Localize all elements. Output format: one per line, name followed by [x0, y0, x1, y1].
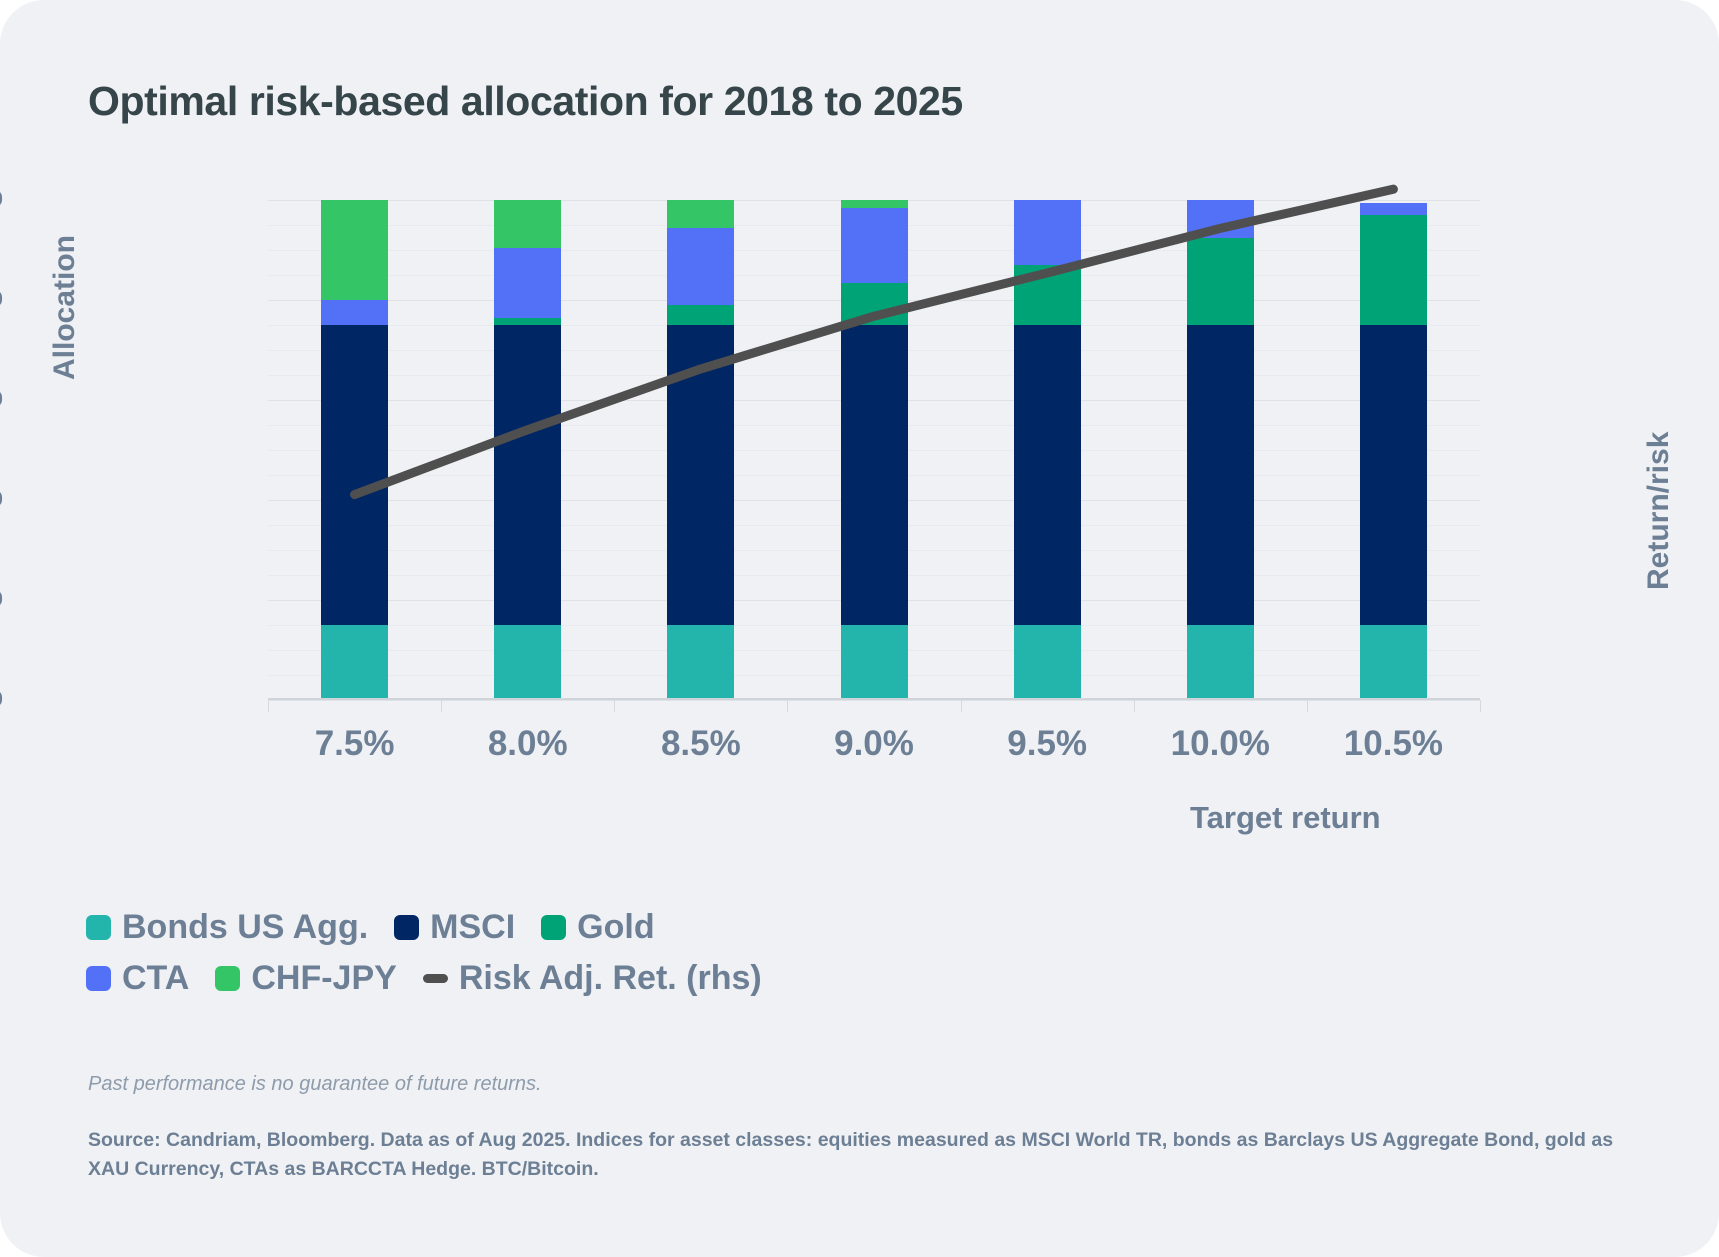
legend-label: Risk Adj. Ret. (rhs) — [459, 959, 762, 998]
bar-segment[interactable] — [1187, 325, 1254, 625]
stacked-bar[interactable] — [494, 200, 561, 700]
legend-item[interactable]: Risk Adj. Ret. (rhs) — [423, 959, 762, 998]
bar-segment[interactable] — [841, 283, 908, 326]
bar-segment[interactable] — [1187, 238, 1254, 326]
bar-segment[interactable] — [1360, 203, 1427, 216]
chart-card: Optimal risk-based allocation for 2018 t… — [0, 0, 1719, 1257]
x-tickmark — [614, 700, 615, 712]
gridline — [268, 700, 1480, 701]
legend-item[interactable]: MSCI — [394, 908, 515, 947]
source-text: Source: Candriam, Bloomberg. Data as of … — [88, 1126, 1618, 1184]
stacked-bar[interactable] — [841, 200, 908, 700]
legend-label: CHF-JPY — [251, 959, 396, 998]
legend-item[interactable]: CTA — [86, 959, 189, 998]
stacked-bar[interactable] — [1014, 200, 1081, 700]
x-tickmark — [961, 700, 962, 712]
legend-item[interactable]: Gold — [541, 908, 654, 947]
bar-segment[interactable] — [667, 200, 734, 228]
x-tick-label: 8.0% — [438, 724, 618, 764]
legend-row-secondary: CTACHF-JPYRisk Adj. Ret. (rhs) — [86, 959, 1086, 998]
bar-segment[interactable] — [841, 625, 908, 700]
x-tickmark — [1480, 700, 1481, 712]
legend-swatch-icon — [86, 966, 111, 991]
stacked-bar[interactable] — [667, 200, 734, 700]
bar-segment[interactable] — [1360, 325, 1427, 625]
bar-segment[interactable] — [321, 200, 388, 300]
stacked-bar[interactable] — [1187, 200, 1254, 700]
bar-segment[interactable] — [494, 325, 561, 625]
bar-segment[interactable] — [667, 305, 734, 325]
bar-segment[interactable] — [841, 200, 908, 208]
x-axis-title: Target return — [1190, 800, 1381, 836]
disclaimer-text: Past performance is no guarantee of futu… — [88, 1073, 542, 1096]
bar-segment[interactable] — [321, 325, 388, 625]
legend-swatch-icon — [541, 915, 566, 940]
bar-segment[interactable] — [667, 228, 734, 306]
stacked-bar[interactable] — [321, 200, 388, 700]
bar-segment[interactable] — [1014, 265, 1081, 325]
y-tick-label-left: 80% — [0, 276, 3, 315]
y-tick-label-left: 0% — [0, 676, 3, 715]
bar-segment[interactable] — [841, 325, 908, 625]
x-tick-label: 9.5% — [957, 724, 1137, 764]
legend-label: Gold — [577, 908, 654, 947]
x-axis-line — [268, 698, 1480, 700]
bar-segment[interactable] — [841, 208, 908, 283]
y-tick-label-left: 40% — [0, 476, 3, 515]
legend-item[interactable]: CHF-JPY — [215, 959, 396, 998]
bar-segment[interactable] — [1014, 625, 1081, 700]
bar-segment[interactable] — [1187, 625, 1254, 700]
bar-segment[interactable] — [494, 200, 561, 248]
legend-item[interactable]: Bonds US Agg. — [86, 908, 368, 947]
bar-segment[interactable] — [494, 318, 561, 326]
plot-area: 0%20%40%60%80%100% 0.600.800.95 7.5%8.0%… — [268, 200, 1480, 700]
x-tickmark — [441, 700, 442, 712]
legend-label: CTA — [122, 959, 189, 998]
bar-segment[interactable] — [1360, 625, 1427, 700]
stacked-bar[interactable] — [1360, 200, 1427, 700]
x-tick-label: 7.5% — [265, 724, 445, 764]
legend-swatch-icon — [394, 915, 419, 940]
bar-segment[interactable] — [494, 248, 561, 318]
chart-legend: Bonds US Agg.MSCIGold CTACHF-JPYRisk Adj… — [86, 908, 1086, 998]
bar-segment[interactable] — [321, 300, 388, 325]
legend-line-icon — [423, 974, 448, 983]
bar-segment[interactable] — [494, 625, 561, 700]
legend-swatch-icon — [215, 966, 240, 991]
x-tick-label: 10.0% — [1130, 724, 1310, 764]
bar-segment[interactable] — [1187, 200, 1254, 238]
bar-segment[interactable] — [667, 325, 734, 625]
x-tickmark — [787, 700, 788, 712]
x-tickmark — [1307, 700, 1308, 712]
legend-row-primary: Bonds US Agg.MSCIGold — [86, 908, 1086, 947]
bar-segment[interactable] — [1014, 200, 1081, 265]
y-tick-label-left: 20% — [0, 576, 3, 615]
bar-segment[interactable] — [1360, 215, 1427, 325]
x-tickmark — [268, 700, 269, 712]
bar-segment[interactable] — [321, 625, 388, 700]
y-tick-label-left: 60% — [0, 376, 3, 415]
x-tick-label: 10.5% — [1303, 724, 1483, 764]
y-axis-title-left: Allocation — [48, 235, 82, 380]
x-tickmark — [1134, 700, 1135, 712]
legend-label: MSCI — [430, 908, 515, 947]
x-tick-label: 9.0% — [784, 724, 964, 764]
y-axis-title-right: Return/risk — [1642, 432, 1676, 590]
bar-segment[interactable] — [667, 625, 734, 700]
x-tick-label: 8.5% — [611, 724, 791, 764]
chart-title: Optimal risk-based allocation for 2018 t… — [88, 78, 963, 125]
legend-swatch-icon — [86, 915, 111, 940]
legend-label: Bonds US Agg. — [122, 908, 368, 947]
bar-segment[interactable] — [1014, 325, 1081, 625]
y-tick-label-left: 100% — [0, 176, 3, 215]
